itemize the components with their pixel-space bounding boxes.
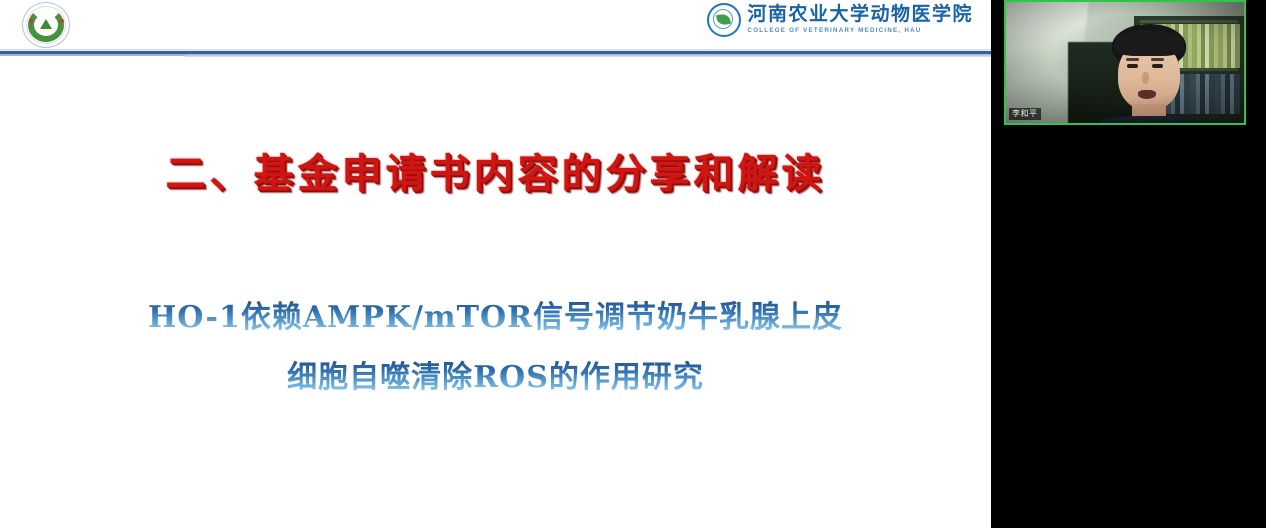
slide-title-line-2: 细胞自噬清除ROS的作用研究: [0, 352, 991, 396]
college-name-english: COLLEGE OF VETERINARY MEDICINE, HAU: [747, 28, 973, 34]
crest-roof-fill: [40, 19, 52, 29]
speaker-video-tile[interactable]: 李和平: [1004, 0, 1246, 125]
video-feed: [1006, 2, 1244, 123]
slide-header: 河南农业大学动物医学院 COLLEGE OF VETERINARY MEDICI…: [0, 0, 991, 52]
university-crest-icon: [14, 2, 78, 48]
presentation-slide: 河南农业大学动物医学院 COLLEGE OF VETERINARY MEDICI…: [0, 0, 991, 528]
slide-title-line-1: HO-1依赖AMPK/mTOR信号调节奶牛乳腺上皮: [0, 292, 991, 336]
participant-name-label: 李和平: [1009, 108, 1041, 120]
crest-dot-right: [60, 19, 64, 23]
college-logo-text: 河南农业大学动物医学院 COLLEGE OF VETERINARY MEDICI…: [747, 5, 973, 34]
college-logo: 河南农业大学动物医学院 COLLEGE OF VETERINARY MEDICI…: [707, 3, 973, 37]
meeting-screen: 河南农业大学动物医学院 COLLEGE OF VETERINARY MEDICI…: [0, 0, 1266, 528]
college-leaf-badge-icon: [707, 3, 741, 37]
crest-dot-left: [29, 19, 33, 23]
leaf-icon: [716, 13, 731, 26]
participant-video-panel: 李和平: [991, 0, 1266, 528]
college-name-chinese: 河南农业大学动物医学院: [747, 5, 973, 24]
slide-section-heading: 二、基金申请书内容的分享和解读: [0, 141, 991, 199]
video-vignette: [1006, 2, 1244, 123]
header-divider-glow: [185, 54, 991, 57]
